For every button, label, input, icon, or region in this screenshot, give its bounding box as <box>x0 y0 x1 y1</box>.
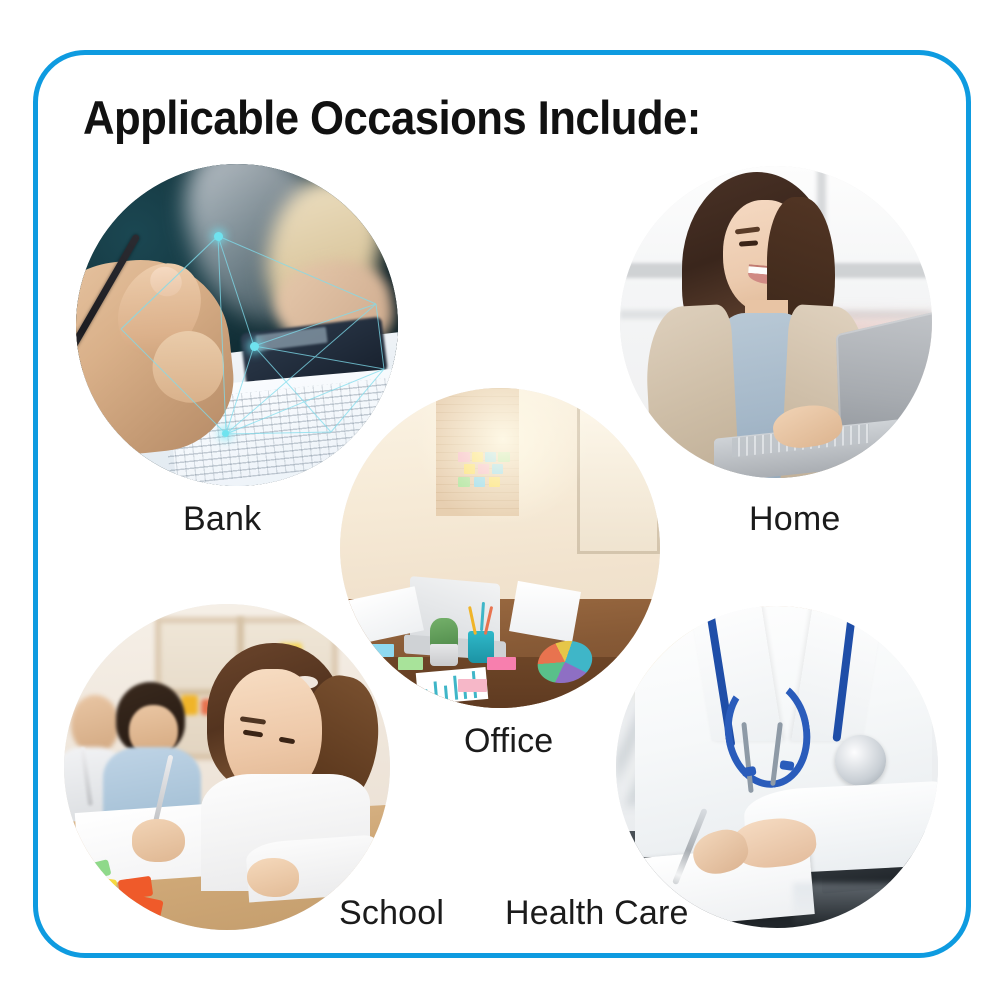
page-title: Applicable Occasions Include: <box>83 92 790 144</box>
occasion-label-bank: Bank <box>183 500 261 539</box>
promo-graphic: Applicable Occasions Include: <box>0 0 1000 1000</box>
occasion-label-home: Home <box>749 500 841 539</box>
occasion-image-health-care <box>616 606 938 928</box>
school-child-background-head <box>71 695 120 754</box>
occasion-image-school <box>64 604 390 930</box>
occasion-label-school: School <box>339 894 444 933</box>
office-desk-sticky-note <box>487 657 516 670</box>
home-scene <box>620 166 932 478</box>
occasion-label-office: Office <box>464 722 553 761</box>
school-girl-writing-hand <box>132 819 184 861</box>
bank-network-node <box>214 232 223 241</box>
health-desk-reflection <box>793 883 935 928</box>
office-desk-sticky-note <box>398 657 424 670</box>
school-girl-resting-hand <box>247 858 299 897</box>
bank-network-node <box>222 430 229 437</box>
health-stethoscope-clip-right <box>780 760 795 771</box>
school-scene <box>64 604 390 930</box>
occasion-image-home <box>620 166 932 478</box>
health-care-scene <box>616 606 938 928</box>
school-plastic-letter <box>86 876 118 899</box>
office-plant-pot <box>430 644 459 666</box>
bank-network-node <box>250 342 259 351</box>
office-light-glow <box>410 388 596 522</box>
office-desk-sticky-note <box>458 679 487 692</box>
occasion-label-health-care: Health Care <box>505 894 689 933</box>
